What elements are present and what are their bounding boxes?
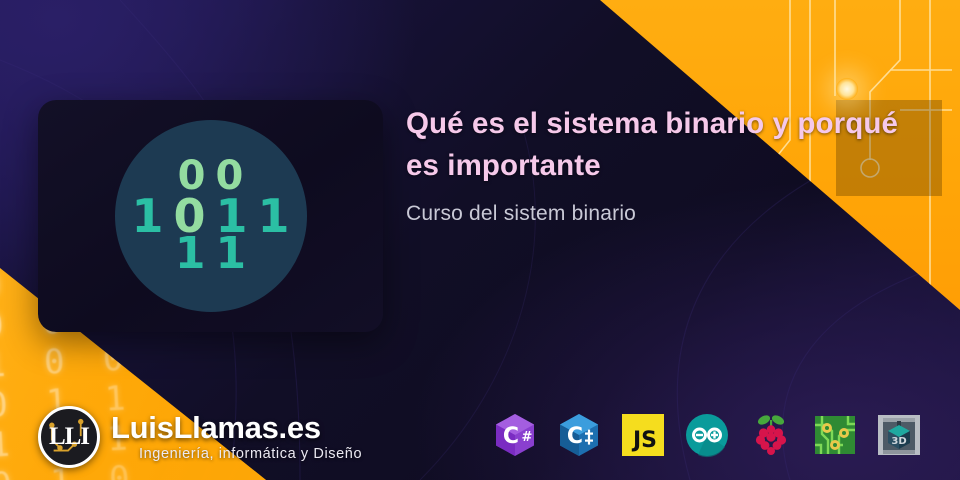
- cplusplus-icon: C: [556, 412, 602, 458]
- svg-text:3D: 3D: [891, 436, 906, 447]
- brand-tagline: Ingeniería, informática y Diseño: [139, 447, 362, 462]
- arduino-icon: [684, 412, 730, 458]
- pcb-icon: [812, 412, 858, 458]
- page-subtitle: Curso del sistem binario: [406, 202, 636, 226]
- glow-dot: [836, 78, 858, 100]
- csharp-icon: C #: [492, 412, 538, 458]
- raspberry-pi-icon: [748, 412, 794, 458]
- binary-digit: 1: [258, 195, 290, 237]
- logo-badge-text: LLI: [41, 409, 97, 465]
- binary-row-3: 1 1: [175, 234, 246, 274]
- logo-badge: LLI: [38, 406, 100, 468]
- binary-digit: 1: [216, 234, 247, 274]
- binary-circle-graphic: 0 0 1 0 1 1 1 1: [115, 120, 307, 312]
- illustration-card: 0 0 1 0 1 1 1 1: [38, 100, 383, 332]
- banner-canvas: 0 1 0 0 0 1 1 0 0 0 1 1 1 0 1 0 1 0 0 0 …: [0, 0, 960, 480]
- page-title: Qué es el sistema binario y porqué es im…: [406, 103, 926, 187]
- brand-block: LLI LuisLlamas.es Ingeniería, informátic…: [38, 406, 362, 468]
- 3d-printing-icon: 3D: [876, 412, 922, 458]
- javascript-icon: JS: [620, 412, 666, 458]
- tech-icon-row: C # C JS: [492, 412, 922, 458]
- binary-row-2: 1 0 1 1: [131, 195, 289, 237]
- svg-text:C: C: [567, 424, 583, 449]
- brand-text: LuisLlamas.es Ingeniería, informática y …: [111, 412, 362, 462]
- svg-text:C: C: [503, 424, 519, 449]
- binary-digit: 1: [175, 234, 206, 274]
- svg-text:#: #: [522, 430, 533, 445]
- binary-digit: 1: [131, 195, 163, 237]
- brand-name: LuisLlamas.es: [111, 412, 362, 443]
- svg-text:JS: JS: [631, 428, 657, 453]
